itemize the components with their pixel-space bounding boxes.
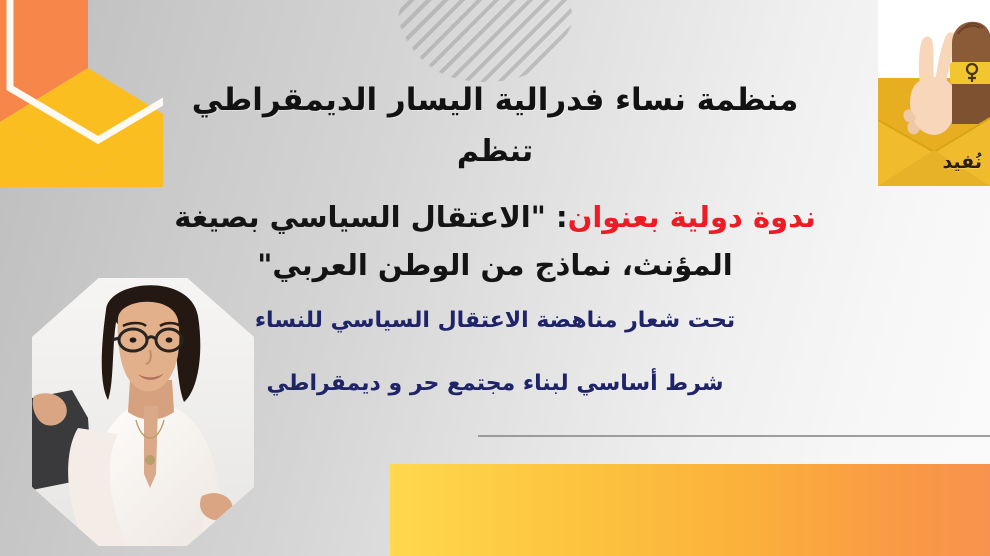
slogan-line2: شرط أساسي لبناء مجتمع حر و ديمقراطي xyxy=(0,371,990,396)
organization-title-line1: منظمة نساء فدرالية اليسار الديمقراطي xyxy=(0,82,990,118)
organization-title-line2: تنظم xyxy=(0,134,990,169)
slogan-line1: تحت شعار مناهضة الاعتقال السياسي للنساء xyxy=(0,308,990,333)
gradient-block xyxy=(390,464,990,556)
striped-circle-icon xyxy=(398,0,573,82)
divider-rule xyxy=(478,435,990,437)
seminar-title-line1: ندوة دولية بعنوان: "الاعتقال السياسي بصي… xyxy=(0,200,990,234)
seminar-title-highlight: ندوة دولية بعنوان xyxy=(568,200,816,234)
seminar-title-line2: المؤنث، نماذج من الوطن العربي" xyxy=(0,248,990,282)
seminar-title-rest: : "الاعتقال السياسي بصيغة xyxy=(174,200,567,234)
poster-canvas: نُفيد منظمة نساء فدرالية اليسار الديمقرا… xyxy=(0,0,990,556)
